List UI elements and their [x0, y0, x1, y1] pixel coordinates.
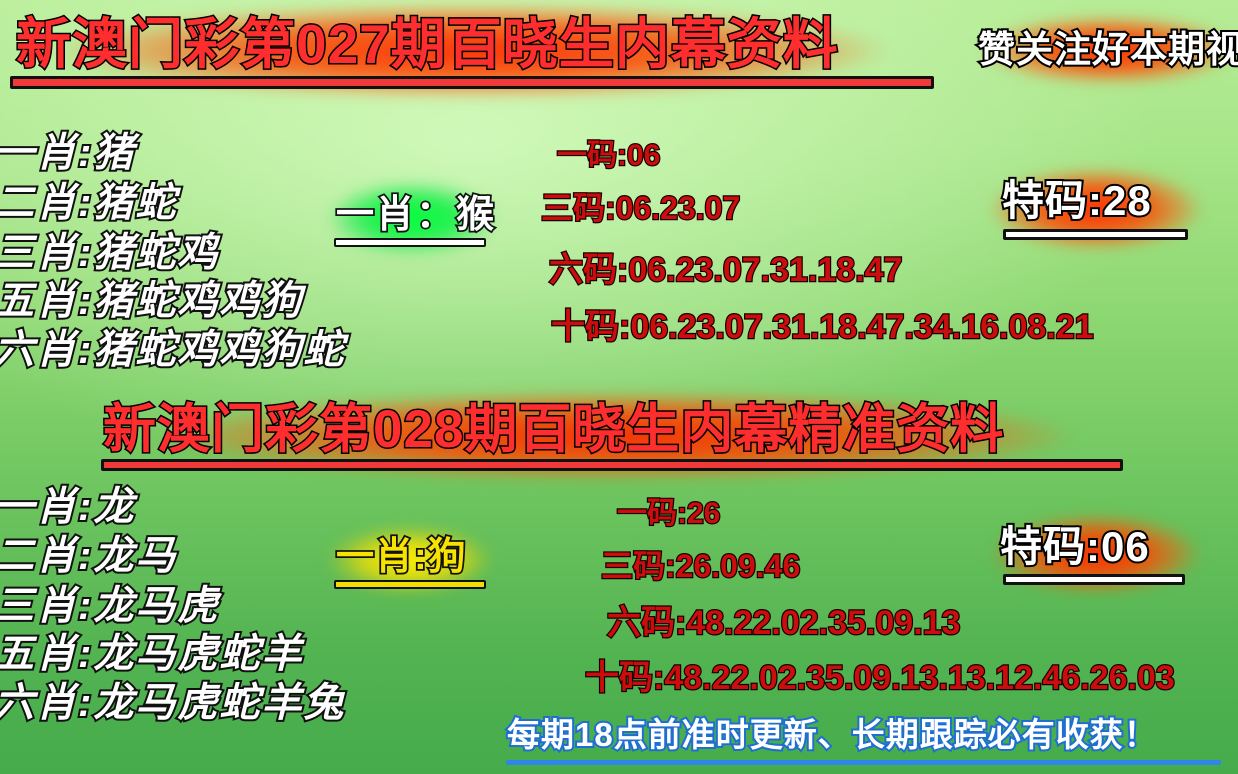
badge-section2: 一肖:狗	[336, 536, 467, 578]
code-row-6-label: 六码:	[549, 251, 628, 289]
special-section1-underline	[1003, 229, 1188, 240]
special-section2-underline	[1003, 574, 1185, 585]
code2-row-3-value: 26.09.46	[676, 548, 801, 584]
code-row-10: 十码:06.23.07.31.18.47.34.16.08.21	[551, 308, 1094, 346]
zodiac-line-1: 一肖:猪	[0, 131, 135, 175]
badge-section2-underline	[334, 580, 486, 589]
footer-notice-underline	[506, 760, 1221, 765]
zodiac-line-2: 二肖:猪蛇	[0, 181, 177, 225]
code2-row-6: 六码:48.22.02.35.09.13	[607, 604, 960, 642]
code2-row-6-label: 六码:	[607, 604, 686, 642]
code-row-3: 三码:06.23.07	[541, 190, 740, 226]
code-row-10-value: 06.23.07.31.18.47.34.16.08.21	[630, 308, 1093, 346]
zodiac2-line-3: 三肖:龙马虎	[0, 584, 219, 628]
badge-section1-underline	[334, 238, 486, 247]
code-row-1-value: 06	[627, 139, 660, 172]
code2-row-3: 三码:26.09.46	[601, 548, 800, 584]
section2-title: 新澳门彩第028期百晓生内幕精准资料	[103, 402, 1004, 458]
code2-row-10-value: 48.22.02.35.09.13.13.12.46.26.03	[664, 659, 1174, 697]
code-row-6: 六码:06.23.07.31.18.47	[549, 251, 902, 289]
code2-row-1-value: 26	[687, 497, 720, 530]
code2-row-1: 一码:26	[617, 497, 720, 531]
code2-row-10-label: 十码:	[585, 659, 664, 697]
code-row-3-label: 三码:	[541, 190, 616, 226]
code2-row-6-value: 48.22.02.35.09.13	[686, 604, 960, 642]
code-row-6-value: 06.23.07.31.18.47	[628, 251, 902, 289]
zodiac-line-5: 五肖:猪蛇鸡鸡狗	[0, 279, 303, 323]
special-code-section2: 特码:06	[1000, 524, 1150, 570]
zodiac2-line-1: 一肖:龙	[0, 485, 135, 529]
header-title: 新澳门彩第027期百晓生内幕资料	[16, 15, 839, 73]
zodiac-line-3: 三肖:猪蛇鸡	[0, 231, 219, 275]
zodiac2-line-2: 二肖:龙马	[0, 534, 177, 578]
section2-title-underline	[101, 459, 1123, 471]
code-row-3-value: 06.23.07	[616, 190, 741, 226]
header-title-underline	[10, 76, 934, 89]
code2-row-10: 十码:48.22.02.35.09.13.13.12.46.26.03	[585, 659, 1175, 697]
code-row-1-label: 一码:	[557, 139, 627, 172]
footer-notice: 每期18点前准时更新、长期跟踪必有收获！	[507, 716, 1158, 754]
badge-section1: 一肖：猴	[336, 194, 496, 236]
special-code-section1: 特码:28	[1002, 178, 1152, 224]
poster-canvas: 新澳门彩第027期百晓生内幕资料 赞关注好本期视频 一肖:猪 二肖:猪蛇 三肖:…	[0, 0, 1238, 774]
zodiac2-line-5: 五肖:龙马虎蛇羊	[0, 632, 303, 676]
promo-text: 赞关注好本期视频	[978, 30, 1238, 70]
zodiac2-line-6: 六肖:龙马虎蛇羊兔	[0, 681, 345, 725]
code-row-10-label: 十码:	[551, 308, 630, 346]
zodiac-line-6: 六肖:猪蛇鸡鸡狗蛇	[0, 328, 345, 372]
code2-row-3-label: 三码:	[601, 548, 676, 584]
code2-row-1-label: 一码:	[617, 497, 687, 530]
code-row-1: 一码:06	[557, 139, 660, 173]
